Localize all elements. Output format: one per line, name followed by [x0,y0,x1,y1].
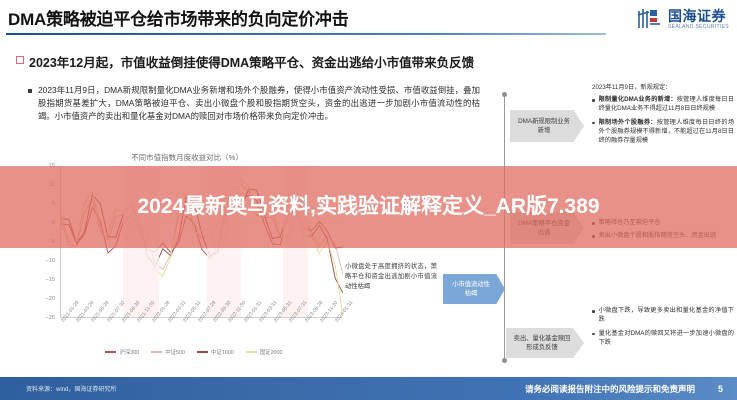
y-axis-tick: −25 [46,315,56,321]
right-item-rest: 量化基金对DMA的赎回又将进一步加速小微盘的下跌 [599,329,734,348]
bullet-dot-icon [592,122,595,125]
legend-swatch-icon [105,351,116,353]
footer-disclaimer: 请务必阅读报告附注中的风险提示和免责声明 [525,383,695,395]
bullet-dot-icon [592,99,595,102]
right-column-block-2: 小微盘下跌，导致更多卖出和量化基金的净值下跌 量化基金对DMA的赎回又将进一步加… [592,306,734,351]
brand-name-en: SEALAND SECURITIES [668,25,729,30]
y-axis-tick: −15 [46,277,56,283]
bullet-dot-icon [592,333,595,336]
y-axis-tick: −20 [46,296,56,302]
right-item-strong: 限制场外个股融券： [599,119,657,126]
legend-swatch-icon [151,351,162,353]
y-axis-tick: −10 [46,258,56,264]
legend-label: 中证1000 [211,348,234,356]
brand-name-cn: 国海证券 [668,9,729,23]
sealand-logo-icon [636,6,663,32]
page-number: 5 [718,384,723,394]
header-divider [6,33,606,35]
slide-footer: 资料来源：wind，国海证券研究所 请务必阅读报告附注中的风险提示和免责声明 5 [0,377,737,400]
legend-swatch-icon [197,351,208,353]
legend-item-2[interactable]: 中证1000 [197,348,234,356]
bullet-dot-icon [592,310,595,313]
bullet-dot-icon [28,89,32,93]
body-paragraph-block: 2023年11月9日，DMA新规限制量化DMA业务新增和场外个股融券，使得小市值… [28,84,480,123]
right-block-heading-0: 2023年11月9日，新规规定： [592,82,734,91]
flow-chip-0[interactable]: DMA新规限制业务新增 [510,110,584,142]
legend-label: 国证2000 [260,348,283,356]
flow-chip-2[interactable]: 小市值流动性枯竭 [443,274,505,304]
chart-legend: 沪深300中证500中证1000国证2000 [44,348,344,356]
legend-item-3[interactable]: 国证2000 [246,348,283,356]
chart-annotation: 小微盘处于高度拥挤的状态，策略平仓和资金出逃加剧小市值流动性枯竭 [345,262,437,291]
watermark-overlay: 2024最新奥马资料,实践验证解释定义_AR版7.389 [0,166,737,248]
slide-page: DMA策略被迫平仓给市场带来的负向定价冲击 国海证券 SEALAND SECUR… [0,0,737,400]
legend-swatch-icon [246,351,257,353]
slide-header: DMA策略被迫平仓给市场带来的负向定价冲击 国海证券 SEALAND SECUR… [0,0,737,40]
legend-label: 沪深300 [119,348,139,356]
legend-item-0[interactable]: 沪深300 [105,348,139,356]
legend-label: 中证500 [165,348,185,356]
watermark-text: 2024最新奥马资料,实践验证解释定义_AR版7.389 [137,194,599,220]
square-bullet-icon [16,56,24,64]
right-list-item: 小微盘下跌，导致更多卖出和量化基金的净值下跌 [592,306,734,325]
right-item-strong: 限制量化DMA业务的新增： [599,96,677,103]
right-list-item: 限制量化DMA业务的新增：按管理人维度每日日终量化DMA业务不得超过11月8日日… [592,95,734,114]
page-title: DMA策略被迫平仓给市场带来的负向定价冲击 [8,5,349,30]
chart-title: 不同市值指数月度收益对比（%） [22,152,352,163]
right-item-rest: 小微盘下跌，导致更多卖出和量化基金的净值下跌 [599,306,734,325]
lead-bullet-text: 2023年12月起，市值收益倒挂使得DMA策略平仓、资金出逃给小市值带来负反馈 [29,52,474,71]
right-column-block-0: 2023年11月9日，新规规定： 限制量化DMA业务的新增：按管理人维度每日日终… [592,82,734,149]
right-list-item: 限制场外个股融券：按管理人维度每日日终的场外个股融券规模不得新增，不能超过在11… [592,118,734,146]
footer-source: 资料来源：wind，国海证券研究所 [26,384,116,393]
lead-bullet: 2023年12月起，市值收益倒挂使得DMA策略平仓、资金出逃给小市值带来负反馈 [16,52,474,71]
flow-chip-3[interactable]: 卖出、量化基金赎回形成负反馈 [506,328,584,358]
brand-logo: 国海证券 SEALAND SECURITIES [636,6,729,32]
right-list-item: 量化基金对DMA的赎回又将进一步加速小微盘的下跌 [592,329,734,348]
legend-item-1[interactable]: 中证500 [151,348,185,356]
body-paragraph: 2023年11月9日，DMA新规限制量化DMA业务新增和场外个股融券，使得小市值… [38,84,480,123]
